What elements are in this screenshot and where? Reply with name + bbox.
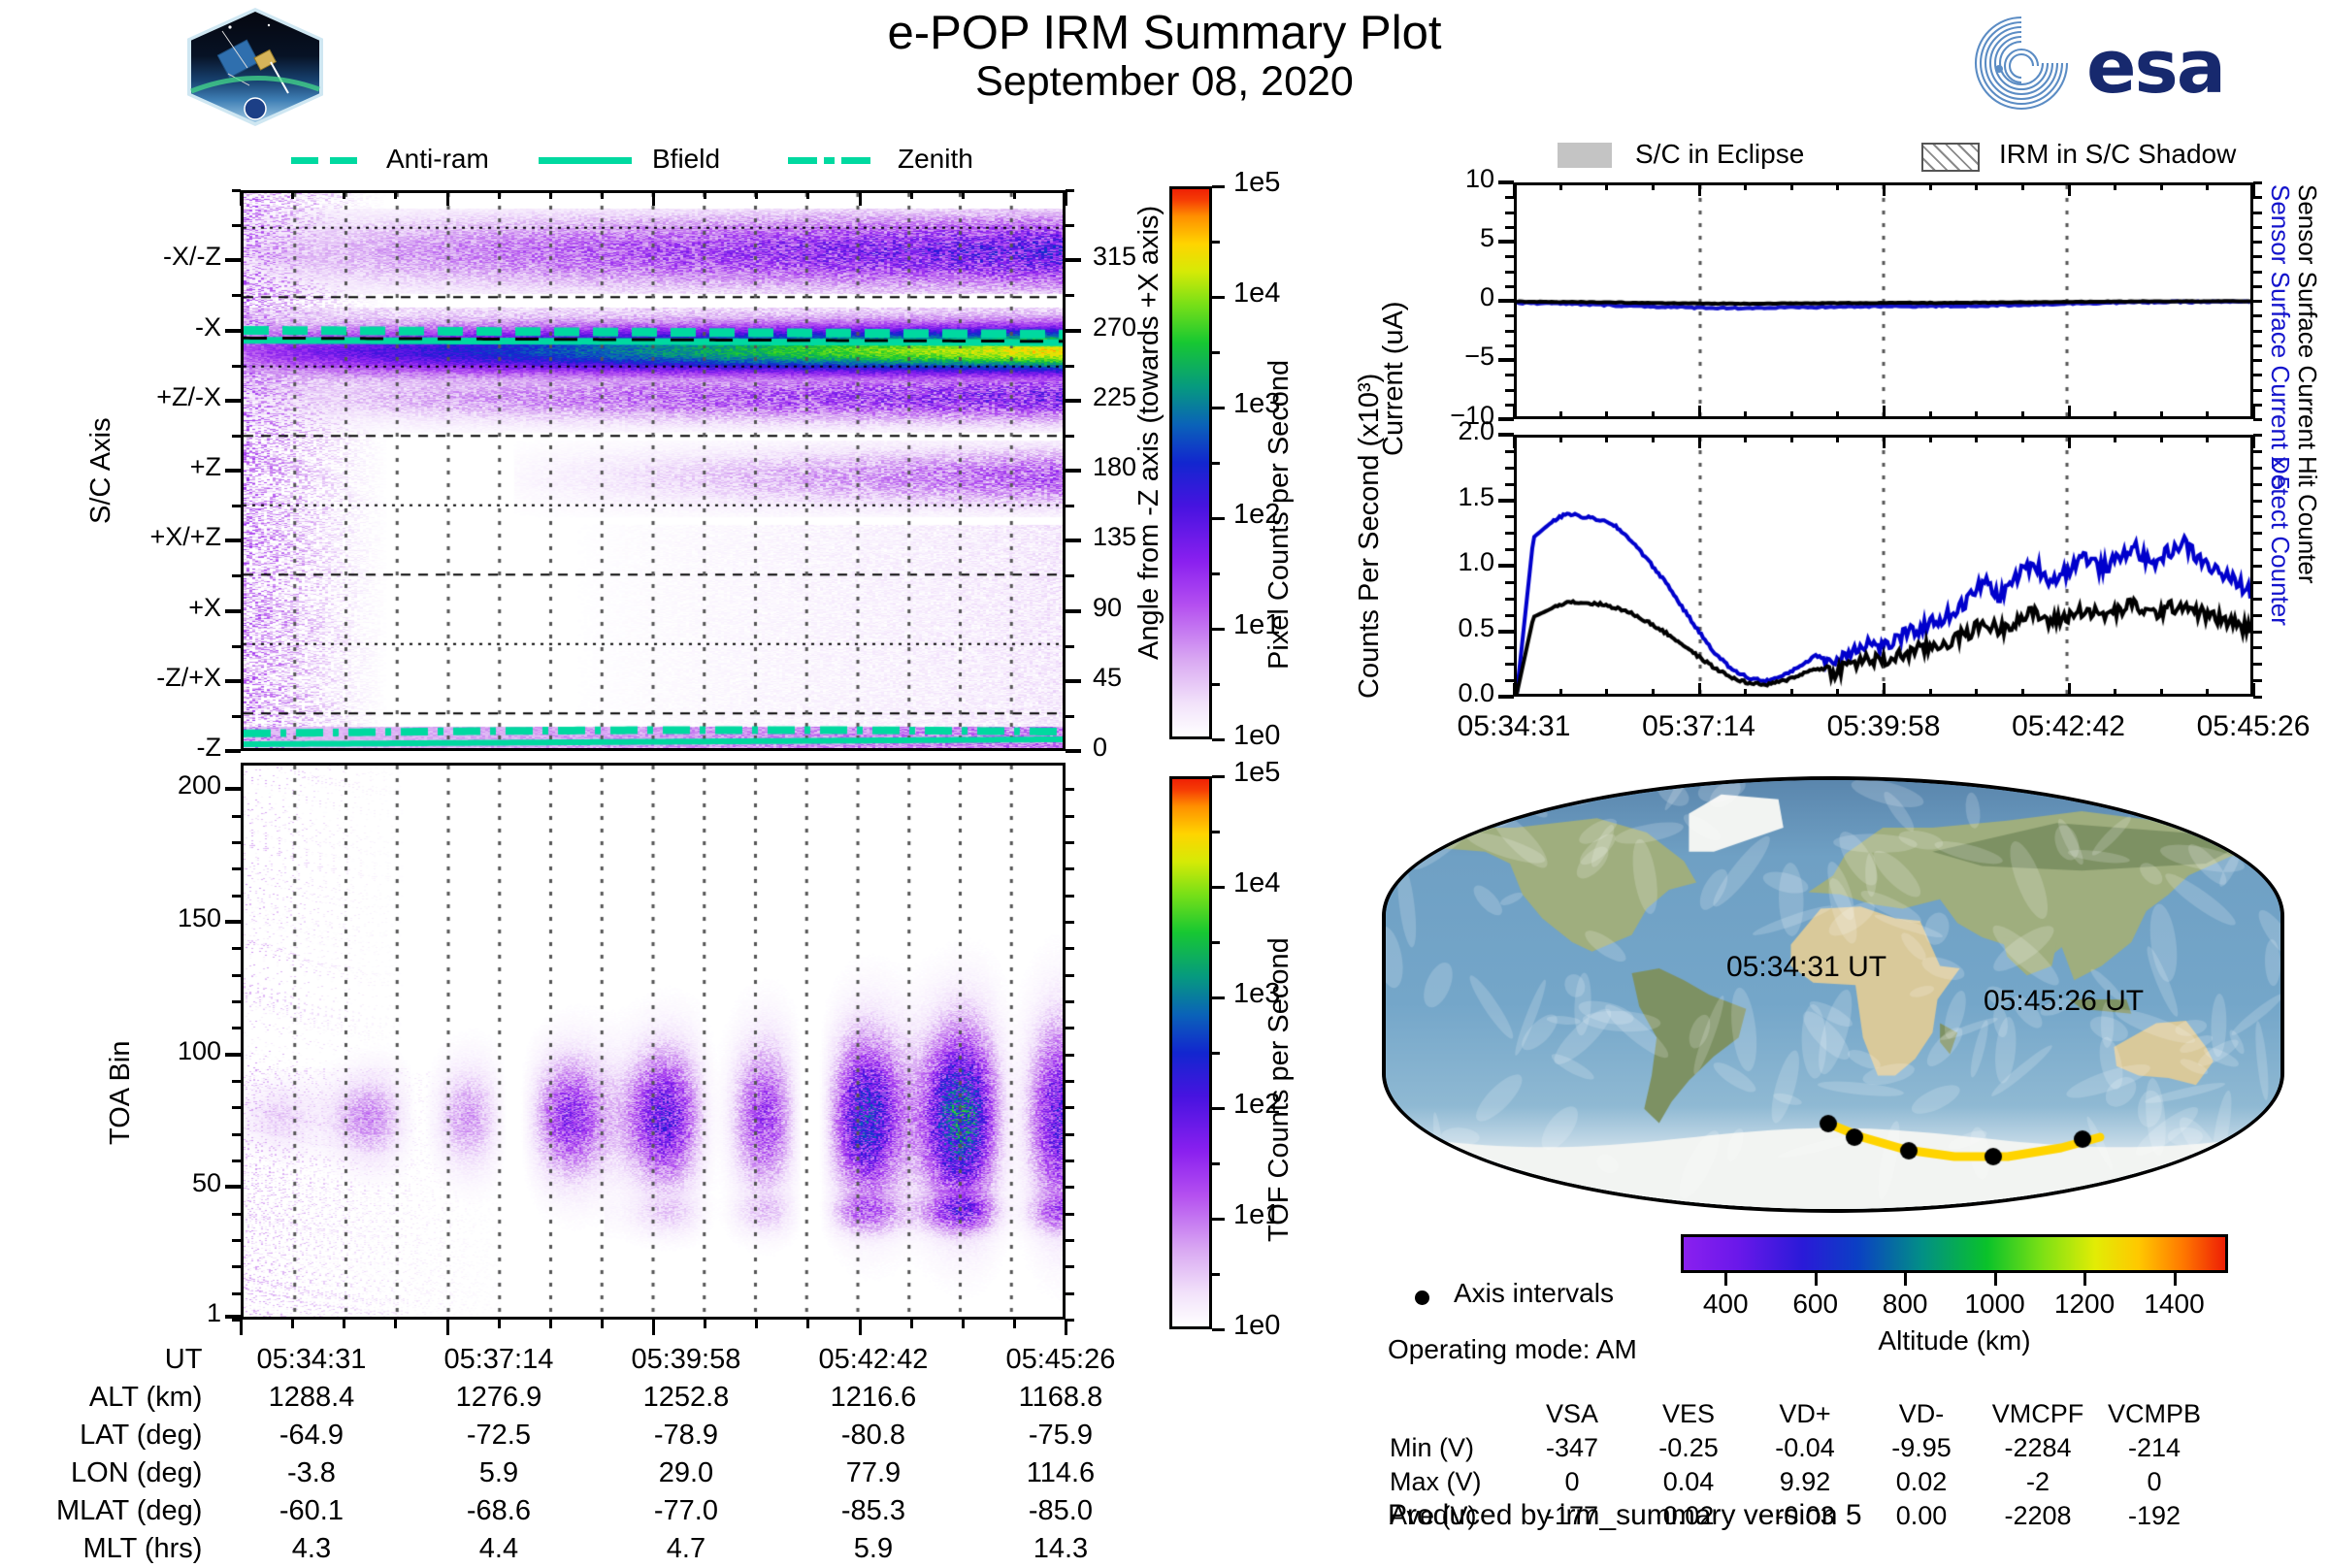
spectrogram-canvas <box>244 193 1063 748</box>
axis-tick <box>1498 180 1514 184</box>
axis-tick <box>1505 565 1514 568</box>
axis-tick <box>2253 330 2262 333</box>
panel1-ytick-right: 270 <box>1093 312 1136 343</box>
axis-tick <box>1066 189 1074 192</box>
axis-tick <box>232 788 241 791</box>
axis-tick <box>1498 630 1514 634</box>
footer-produced-by: Produced by irm_summary version 5 <box>1388 1499 1862 1532</box>
axis-tick <box>2253 500 2262 503</box>
axis-tick <box>2253 646 2262 649</box>
axis-tick <box>1498 564 1514 568</box>
colorbar-minor-tick <box>1212 831 1220 833</box>
axis-tick <box>1505 374 1514 376</box>
colorbar-tick <box>1212 1328 1225 1331</box>
axis-tick <box>232 680 241 683</box>
counts-right-label-black: Hit Counter <box>2292 456 2322 689</box>
panel1-ytick-left: +X/+Z <box>66 522 221 552</box>
esa-swirl-icon <box>1974 16 2079 111</box>
axis-tick <box>232 645 241 648</box>
axis-tick <box>1505 548 1514 551</box>
axis-tick <box>1066 1239 1074 1242</box>
axis-tick <box>1066 679 1081 683</box>
axis-tick <box>1505 344 1514 347</box>
toa-bin-spectrogram <box>241 763 1066 1320</box>
axis-tick <box>2253 515 2262 518</box>
axis-tick <box>2253 181 2262 184</box>
counts-right-label-blue: Detect Counter <box>2265 456 2295 689</box>
axis-tick <box>1505 330 1514 333</box>
current-canvas <box>1517 185 2250 416</box>
axis-tick <box>1505 679 1514 682</box>
current-right-label-black: Sensor Surface Current <box>2292 184 2322 475</box>
axis-tick <box>1498 417 1514 421</box>
axis-tick <box>1505 434 1514 437</box>
axis-tick <box>704 1320 706 1328</box>
row-label: UT <box>56 1341 217 1379</box>
colorbar-tick <box>1212 996 1225 999</box>
axis-tick <box>962 1320 965 1328</box>
axis-tick <box>232 505 241 507</box>
axis-tick <box>1066 1027 1074 1029</box>
axis-tick <box>225 329 241 333</box>
axis-tick <box>1066 1186 1074 1189</box>
axis-tick <box>1066 329 1081 333</box>
panel3-ytick: −10 <box>1397 401 1494 431</box>
col-header: VCMPB <box>2096 1397 2213 1431</box>
colorbar-tick <box>1212 738 1225 741</box>
axis-tick <box>232 1265 241 1268</box>
axis-tick <box>2253 314 2262 317</box>
panel4-xtick: 05:39:58 <box>1796 710 1971 743</box>
axis-tick <box>232 294 241 297</box>
colorbar-minor-tick <box>1212 1218 1220 1221</box>
colorbar-tick <box>1212 407 1225 409</box>
panel1-ytick-left: -Z/+X <box>66 663 221 693</box>
esa-wordmark: esa <box>2086 23 2224 110</box>
axis-tick <box>1505 696 1514 699</box>
axis-tick <box>1505 614 1514 617</box>
axis-tick <box>232 1000 241 1003</box>
axis-tick <box>2253 696 2262 699</box>
axis-tick <box>1498 299 1514 303</box>
axis-tick <box>2253 374 2262 376</box>
axis-tick <box>1066 400 1074 403</box>
axis-tick <box>2253 196 2262 199</box>
table-row: MLAT (deg) -60.1 -68.6 -77.0 -85.3 -85.0 <box>56 1492 1154 1530</box>
axis-tick <box>1066 715 1074 718</box>
axis-tick <box>1505 226 1514 229</box>
panel4-ytick: 1.0 <box>1388 547 1494 577</box>
colorbar-minor-tick <box>1212 886 1220 889</box>
col-header: VD- <box>1863 1397 1980 1431</box>
axis-tick <box>232 841 241 844</box>
axis-tick <box>549 1320 552 1328</box>
axis-tick <box>232 1027 241 1029</box>
panel3-ytick: 0 <box>1397 282 1494 312</box>
row-label: Min (V) <box>1390 1431 1514 1465</box>
legend-label-eclipse: S/C in Eclipse <box>1635 139 1804 170</box>
axis-tick <box>232 365 241 368</box>
axis-tick <box>2253 359 2262 362</box>
axis-tick <box>232 1080 241 1083</box>
row-label: Max (V) <box>1390 1465 1514 1499</box>
row-label: MLAT (deg) <box>56 1492 217 1530</box>
panel1-right-ylabel: Angle from -Z axis (towards +X axis) <box>1133 272 1165 660</box>
axis-tick <box>1505 212 1514 214</box>
axis-tick <box>1066 609 1081 613</box>
panel1-ytick-left: -X/-Z <box>66 242 221 272</box>
axis-tick <box>1505 255 1514 258</box>
axis-tick <box>1505 646 1514 649</box>
operating-mode: Operating mode: AM <box>1388 1334 1637 1365</box>
table-row: LAT (deg) -64.9 -72.5 -78.9 -80.8 -75.9 <box>56 1417 1154 1454</box>
colorbar-minor-tick <box>1212 572 1220 575</box>
axis-tick <box>2253 226 2262 229</box>
axis-tick <box>1066 815 1074 818</box>
axis-tick <box>1505 389 1514 392</box>
counts-canvas <box>1517 438 2250 694</box>
colorbar-minor-tick <box>1212 351 1220 354</box>
axis-tick <box>2253 271 2262 274</box>
axis-tick <box>1066 1054 1074 1057</box>
altitude-colorbar-ticks <box>1681 1273 2228 1331</box>
axis-tick <box>1505 631 1514 634</box>
colorbar-minor-tick <box>1212 628 1220 631</box>
pixel-angle-spectrogram <box>241 190 1066 751</box>
axis-tick <box>2253 598 2262 601</box>
colorbar-tick <box>1212 185 1225 188</box>
axis-tick <box>1066 505 1074 507</box>
orbit-map[interactable]: 05:34:31 UT 05:45:26 UT <box>1382 776 2284 1213</box>
colorbar-tick <box>1212 517 1225 520</box>
panel4-ytick: 0.5 <box>1388 613 1494 643</box>
axis-tick <box>1066 1213 1074 1216</box>
axis-tick <box>232 815 241 818</box>
current-right-label-blue: Sensor Surface Current x 5 <box>2265 184 2295 475</box>
colorbar-minor-tick <box>1212 775 1220 778</box>
axis-tick <box>225 469 241 473</box>
axis-tick <box>2253 679 2262 682</box>
colorbar-minor-tick <box>1212 407 1220 409</box>
axis-tick <box>2253 285 2262 288</box>
anti-ram-swatch <box>291 157 318 164</box>
axis-tick <box>1505 196 1514 199</box>
axis-tick <box>1505 300 1514 303</box>
colorbar-minor-tick <box>1212 296 1220 299</box>
col-header: VES <box>1630 1397 1747 1431</box>
panel3-ytick: −5 <box>1397 342 1494 372</box>
altitude-colorbar <box>1681 1234 2228 1273</box>
table-header-row: VSA VES VD+ VD- VMCPF VCMPB <box>1390 1397 2213 1431</box>
panel1-ytick-right: 180 <box>1093 452 1136 482</box>
row-label: ALT (km) <box>56 1379 217 1417</box>
axis-tick <box>1066 1133 1074 1136</box>
axis-tick <box>1066 921 1074 924</box>
axis-tick <box>1066 1106 1074 1109</box>
axis-tick <box>232 947 241 950</box>
axis-tick <box>225 399 241 403</box>
axis-intervals-legend: Axis intervals <box>1454 1278 1614 1309</box>
legend-label-zenith: Zenith <box>898 144 973 175</box>
colorbar-minor-tick <box>1212 941 1220 944</box>
axis-tick <box>1066 330 1074 333</box>
axis-tick <box>225 787 241 791</box>
axis-tick <box>1066 610 1074 613</box>
axis-tick <box>232 330 241 333</box>
axis-tick <box>910 1320 913 1328</box>
orbit-track <box>1382 776 2284 1213</box>
panel2-ytick: 1 <box>85 1298 221 1328</box>
colorbar-minor-tick <box>1212 1162 1220 1165</box>
axis-tick <box>1066 435 1074 438</box>
axis-tick <box>232 610 241 613</box>
pixel-colorbar-tick-label: 1e0 <box>1233 720 1280 752</box>
current-timeseries <box>1514 182 2253 419</box>
colorbar-minor-tick <box>1212 1328 1220 1331</box>
axis-tick <box>394 1320 397 1328</box>
axis-tick <box>1505 285 1514 288</box>
axis-tick <box>1066 469 1081 473</box>
colorbar-tick <box>1212 1107 1225 1110</box>
axis-tick <box>1505 598 1514 601</box>
panel1-ytick-right: 90 <box>1093 593 1122 623</box>
colorbar-minor-tick <box>1212 683 1220 686</box>
panel4-xtick: 05:37:14 <box>1612 710 1787 743</box>
axis-tick <box>232 539 241 542</box>
axis-tick <box>232 435 241 438</box>
axis-tick <box>232 1054 241 1057</box>
colorbar-minor-tick <box>1212 1107 1220 1110</box>
axis-tick <box>1066 1292 1074 1295</box>
colorbar-minor-tick <box>1212 241 1220 244</box>
axis-tick <box>2253 467 2262 470</box>
axis-tick <box>1065 1320 1067 1335</box>
axis-tick <box>2253 300 2262 303</box>
colorbar-minor-tick <box>1212 996 1220 999</box>
axis-tick <box>232 1133 241 1136</box>
axis-tick <box>1066 470 1074 473</box>
axis-tick <box>1498 358 1514 362</box>
track-end-label: 05:45:26 UT <box>1984 985 2144 1018</box>
axis-tick <box>1505 532 1514 535</box>
axis-tick <box>1498 695 1514 699</box>
cassiope-mission-logo <box>187 8 323 126</box>
colorbar-tick <box>1212 1218 1225 1221</box>
axis-tick <box>1066 399 1081 403</box>
panel1-ytick-right: 135 <box>1093 522 1136 552</box>
axis-tick <box>1066 841 1074 844</box>
axis-tick <box>225 679 241 683</box>
axis-tick <box>1066 294 1074 297</box>
tof-colorbar-tick-label: 1e0 <box>1233 1310 1280 1342</box>
axis-tick <box>1505 271 1514 274</box>
panel3-ytick: 5 <box>1397 223 1494 253</box>
table-row: Max (V) 0 0.04 9.92 0.02 -2 0 <box>1390 1465 2213 1499</box>
table-row: UT 05:34:31 05:37:14 05:39:58 05:42:42 0… <box>56 1341 1154 1379</box>
tof-colorbar-tick-label: 1e5 <box>1233 757 1280 789</box>
axis-tick <box>232 1213 241 1216</box>
axis-tick <box>1066 258 1081 262</box>
toa-canvas <box>244 766 1063 1317</box>
axis-tick <box>2253 389 2262 392</box>
panel1-ytick-left: +X <box>66 593 221 623</box>
panel1-ytick-left: -Z <box>66 733 221 763</box>
axis-tick <box>446 1320 449 1335</box>
axis-tick <box>232 750 241 753</box>
axis-tick <box>859 1320 862 1335</box>
axis-tick <box>1066 947 1074 950</box>
panel1-ylabel: S/C Axis <box>85 310 117 524</box>
axis-tick <box>1505 418 1514 421</box>
axis-tick <box>1505 359 1514 362</box>
axis-tick <box>225 539 241 542</box>
axis-tick <box>2253 581 2262 584</box>
panel1-ytick-right: 315 <box>1093 242 1136 272</box>
track-start-label: 05:34:31 UT <box>1726 951 1886 984</box>
axis-tick <box>2253 565 2262 568</box>
axis-tick <box>232 189 241 192</box>
axis-tick <box>232 1292 241 1295</box>
col-header: VSA <box>1514 1397 1630 1431</box>
axis-tick <box>232 574 241 577</box>
panel4-ytick: 0.0 <box>1388 678 1494 708</box>
legend-label-anti-ram: Anti-ram <box>386 144 489 175</box>
axis-tick <box>225 258 241 262</box>
panel2-ytick: 150 <box>85 903 221 933</box>
tof-colorbar <box>1169 776 1212 1329</box>
axis-tick <box>1505 241 1514 244</box>
axis-tick <box>806 1320 809 1328</box>
panel4-xtick: 05:45:26 <box>2166 710 2329 743</box>
axis-tick <box>232 715 241 718</box>
counts-timeseries <box>1514 435 2253 697</box>
axis-tick <box>2253 404 2262 407</box>
axis-tick <box>232 974 241 977</box>
axis-tick <box>1505 515 1514 518</box>
axis-tick <box>1505 314 1514 317</box>
colorbar-minor-tick <box>1212 185 1220 188</box>
axis-tick <box>232 470 241 473</box>
axis-tick <box>2253 450 2262 453</box>
panel4-xtick: 05:34:31 <box>1427 710 1601 743</box>
axis-tick <box>2253 663 2262 666</box>
axis-tick <box>232 224 241 227</box>
pixel-colorbar-label: Pixel Counts per Second <box>1263 281 1296 670</box>
axis-tick <box>1505 450 1514 453</box>
axis-tick <box>232 1239 241 1242</box>
axis-tick <box>1505 467 1514 470</box>
axis-tick <box>1505 581 1514 584</box>
tof-colorbar-label: TOF Counts per Second <box>1263 873 1296 1242</box>
axis-tick <box>1066 974 1074 977</box>
axis-tick <box>2253 212 2262 214</box>
axis-tick <box>1066 1265 1074 1268</box>
colorbar-minor-tick <box>1212 462 1220 465</box>
axis-tick <box>2253 344 2262 347</box>
colorbar-tick <box>1212 628 1225 631</box>
bfield-swatch <box>539 157 632 164</box>
axis-tick <box>232 895 241 898</box>
axis-tick <box>1066 1160 1074 1162</box>
eclipse-legend: S/C in Eclipse IRM in S/C Shadow <box>1558 139 2276 174</box>
axis-tick <box>1066 749 1081 753</box>
axis-tick <box>1066 1080 1074 1083</box>
axis-tick <box>1066 680 1074 683</box>
axis-tick <box>2253 255 2262 258</box>
axis-tick <box>1013 1320 1016 1328</box>
axis-tick <box>1505 663 1514 666</box>
row-label: LAT (deg) <box>56 1417 217 1454</box>
panel2-ytick: 50 <box>85 1168 221 1198</box>
axis-tick <box>1066 867 1074 870</box>
axis-tick <box>2253 631 2262 634</box>
axis-tick <box>652 1320 655 1335</box>
axis-tick <box>1066 1319 1074 1322</box>
table-row: ALT (km) 1288.4 1276.9 1252.8 1216.6 116… <box>56 1379 1154 1417</box>
altitude-colorbar-label: Altitude (km) <box>1681 1325 2228 1356</box>
esa-logo: esa <box>1970 10 2261 116</box>
axis-tick <box>232 867 241 870</box>
axis-tick <box>1066 750 1074 753</box>
axis-tick <box>1066 895 1074 898</box>
axis-tick <box>2253 532 2262 535</box>
panel1-ytick-right: 225 <box>1093 382 1136 412</box>
axis-tick <box>232 400 241 403</box>
pixel-colorbar-tick-label: 1e5 <box>1233 167 1280 199</box>
axis-tick <box>1066 539 1081 542</box>
axis-tick <box>1066 1000 1074 1003</box>
axis-tick <box>1505 500 1514 503</box>
axis-tick <box>755 1320 758 1328</box>
axis-tick <box>2253 241 2262 244</box>
eclipse-swatch <box>1558 143 1612 168</box>
axis-tick <box>1066 574 1074 577</box>
panel4-xtick: 05:42:42 <box>1982 710 2156 743</box>
panel2-ytick: 200 <box>85 770 221 800</box>
axis-tick <box>240 1320 243 1335</box>
axis-tick <box>1066 539 1074 542</box>
colorbar-minor-tick <box>1212 1273 1220 1276</box>
axis-tick <box>232 1160 241 1162</box>
axis-tick <box>1498 499 1514 503</box>
axis-tick <box>498 1320 501 1328</box>
shadow-swatch <box>1921 143 1980 172</box>
axis-tick <box>1498 433 1514 437</box>
pixel-colorbar <box>1169 186 1212 739</box>
axis-tick <box>2253 548 2262 551</box>
panel4-ylabel: Counts Per Second (x10³) <box>1355 456 1386 699</box>
table-row: LON (deg) -3.8 5.9 29.0 77.9 114.6 <box>56 1454 1154 1492</box>
legend-label-bfield: Bfield <box>652 144 720 175</box>
colorbar-minor-tick <box>1212 738 1220 741</box>
axis-tick <box>1505 483 1514 486</box>
axis-tick <box>225 1315 241 1319</box>
panel1-ytick-right: 0 <box>1093 733 1107 763</box>
row-label: LON (deg) <box>56 1454 217 1492</box>
axis-tick <box>1066 788 1074 791</box>
spectrogram-legend: Anti-ram Bfield Zenith <box>291 144 1029 179</box>
axis-tick <box>1066 224 1074 227</box>
axis-tick <box>232 259 241 262</box>
axis-tick <box>225 1053 241 1057</box>
ephemeris-table: UT 05:34:31 05:37:14 05:39:58 05:42:42 0… <box>56 1341 1154 1568</box>
panel2-ylabel: TOA Bin <box>105 980 137 1145</box>
axis-tick <box>232 1186 241 1189</box>
axis-tick <box>601 1320 604 1328</box>
col-header: VMCPF <box>1980 1397 2096 1431</box>
zenith-swatch <box>788 157 817 164</box>
axis-tick <box>343 1320 345 1328</box>
